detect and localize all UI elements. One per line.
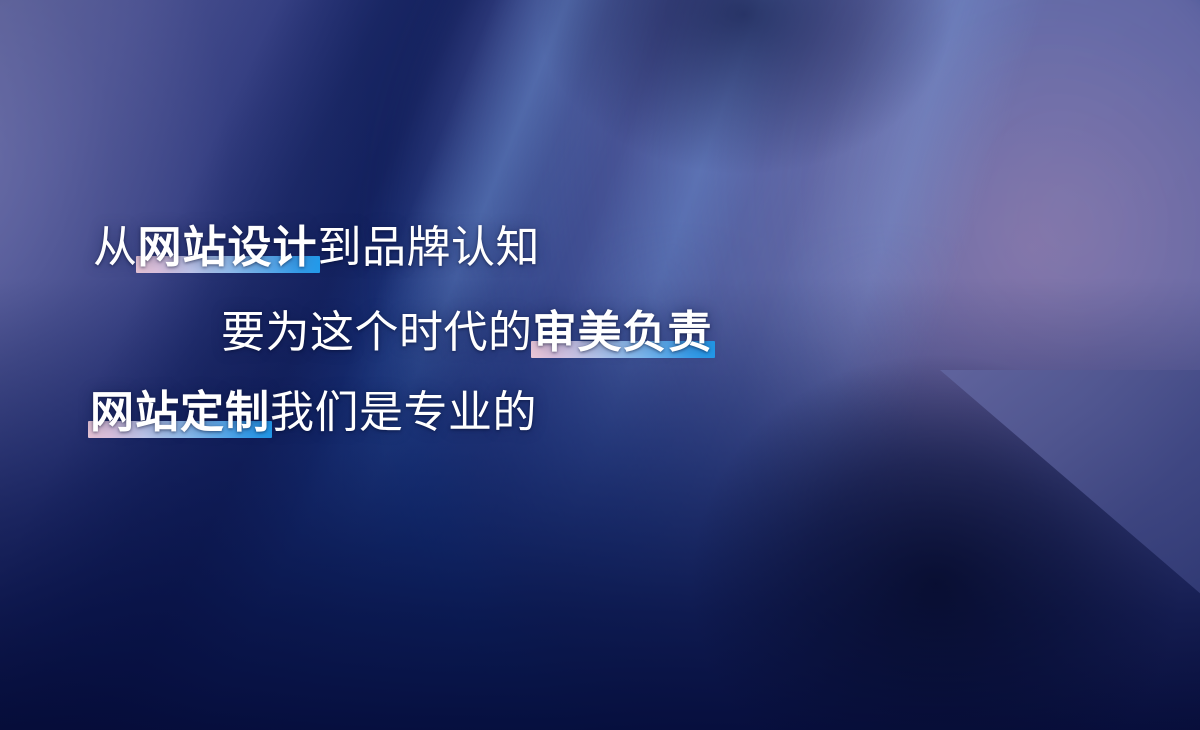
headline-line-1: 从网站设计到品牌认知 [93, 226, 540, 270]
headline-text-plain: 从 [93, 223, 138, 272]
headline-group: 从网站设计到品牌认知 要为这个时代的审美负责 网站定制我们是专业的 [0, 0, 1200, 730]
headline-line-3: 网站定制我们是专业的 [90, 391, 537, 435]
headline-text-emphasis: 审美负责 [533, 308, 713, 357]
headline-line-2: 要为这个时代的审美负责 [221, 311, 713, 355]
hero-banner: 从网站设计到品牌认知 要为这个时代的审美负责 网站定制我们是专业的 [0, 0, 1200, 730]
headline-text-emphasis: 网站设计 [138, 223, 318, 272]
headline-text-plain: 我们是专业的 [270, 388, 537, 437]
headline-text-plain: 到品牌认知 [318, 223, 541, 272]
headline-text-emphasis: 网站定制 [90, 388, 270, 437]
headline-text-plain: 要为这个时代的 [221, 308, 533, 357]
